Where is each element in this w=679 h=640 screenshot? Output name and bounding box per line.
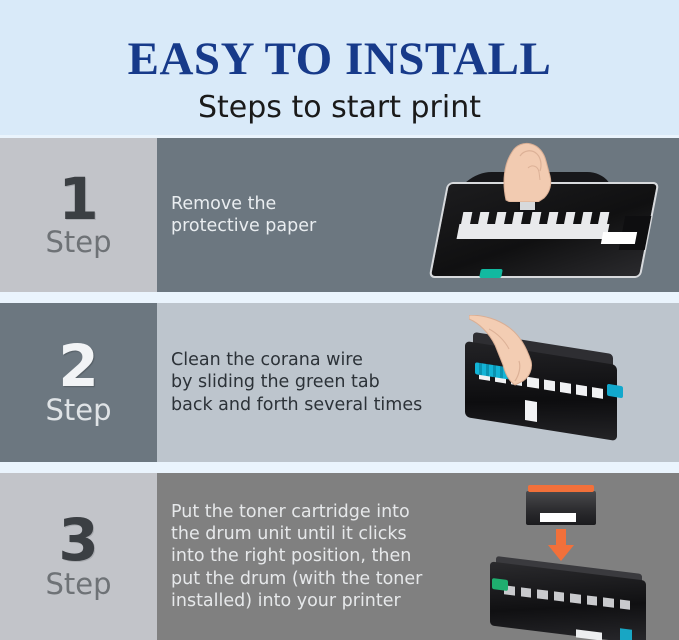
step-row-3: 3 Step Put the toner cartridge into the …	[0, 473, 679, 640]
step-content-panel-2: Clean the corana wire by sliding the gre…	[157, 303, 679, 462]
install-instructions-infographic: EASY TO INSTALL Steps to start print 1 S…	[0, 0, 679, 640]
step-number-panel-3: 3 Step	[0, 473, 157, 640]
step-row-1: 1 Step Remove the protective paper	[0, 138, 679, 292]
header-banner: EASY TO INSTALL Steps to start print	[0, 0, 679, 135]
step-label-1: Step	[45, 226, 111, 257]
page-subtitle: Steps to start print	[0, 83, 679, 123]
drum-unit-icon	[432, 164, 654, 282]
drum-unit-icon	[465, 331, 625, 451]
drum-unit-icon	[490, 563, 650, 640]
step-number-2: 2	[58, 340, 98, 393]
step-row-2: 2 Step Clean the corana wire by sliding …	[0, 303, 679, 462]
step-content-panel-3: Put the toner cartridge into the drum un…	[157, 473, 679, 640]
step-label-3: Step	[45, 568, 111, 599]
hand-icon	[498, 142, 564, 202]
step-number-1: 1	[58, 173, 98, 226]
step-illustration-1	[400, 138, 679, 292]
step-content-panel-1: Remove the protective paper	[157, 138, 679, 292]
step-instruction-text-2: Clean the corana wire by sliding the gre…	[157, 349, 422, 416]
step-number-panel-1: 1 Step	[0, 138, 157, 292]
step-number-3: 3	[58, 514, 98, 567]
hand-icon	[469, 315, 555, 393]
step-illustration-2	[379, 303, 679, 462]
page-title: EASY TO INSTALL	[0, 0, 679, 83]
step-illustration-3	[440, 473, 679, 640]
step-instruction-text-3: Put the toner cartridge into the drum un…	[157, 501, 422, 613]
step-number-panel-2: 2 Step	[0, 303, 157, 462]
step-instruction-text-1: Remove the protective paper	[157, 193, 316, 238]
down-arrow-icon	[548, 529, 574, 561]
toner-cartridge-icon	[526, 485, 596, 527]
step-label-2: Step	[45, 394, 111, 425]
